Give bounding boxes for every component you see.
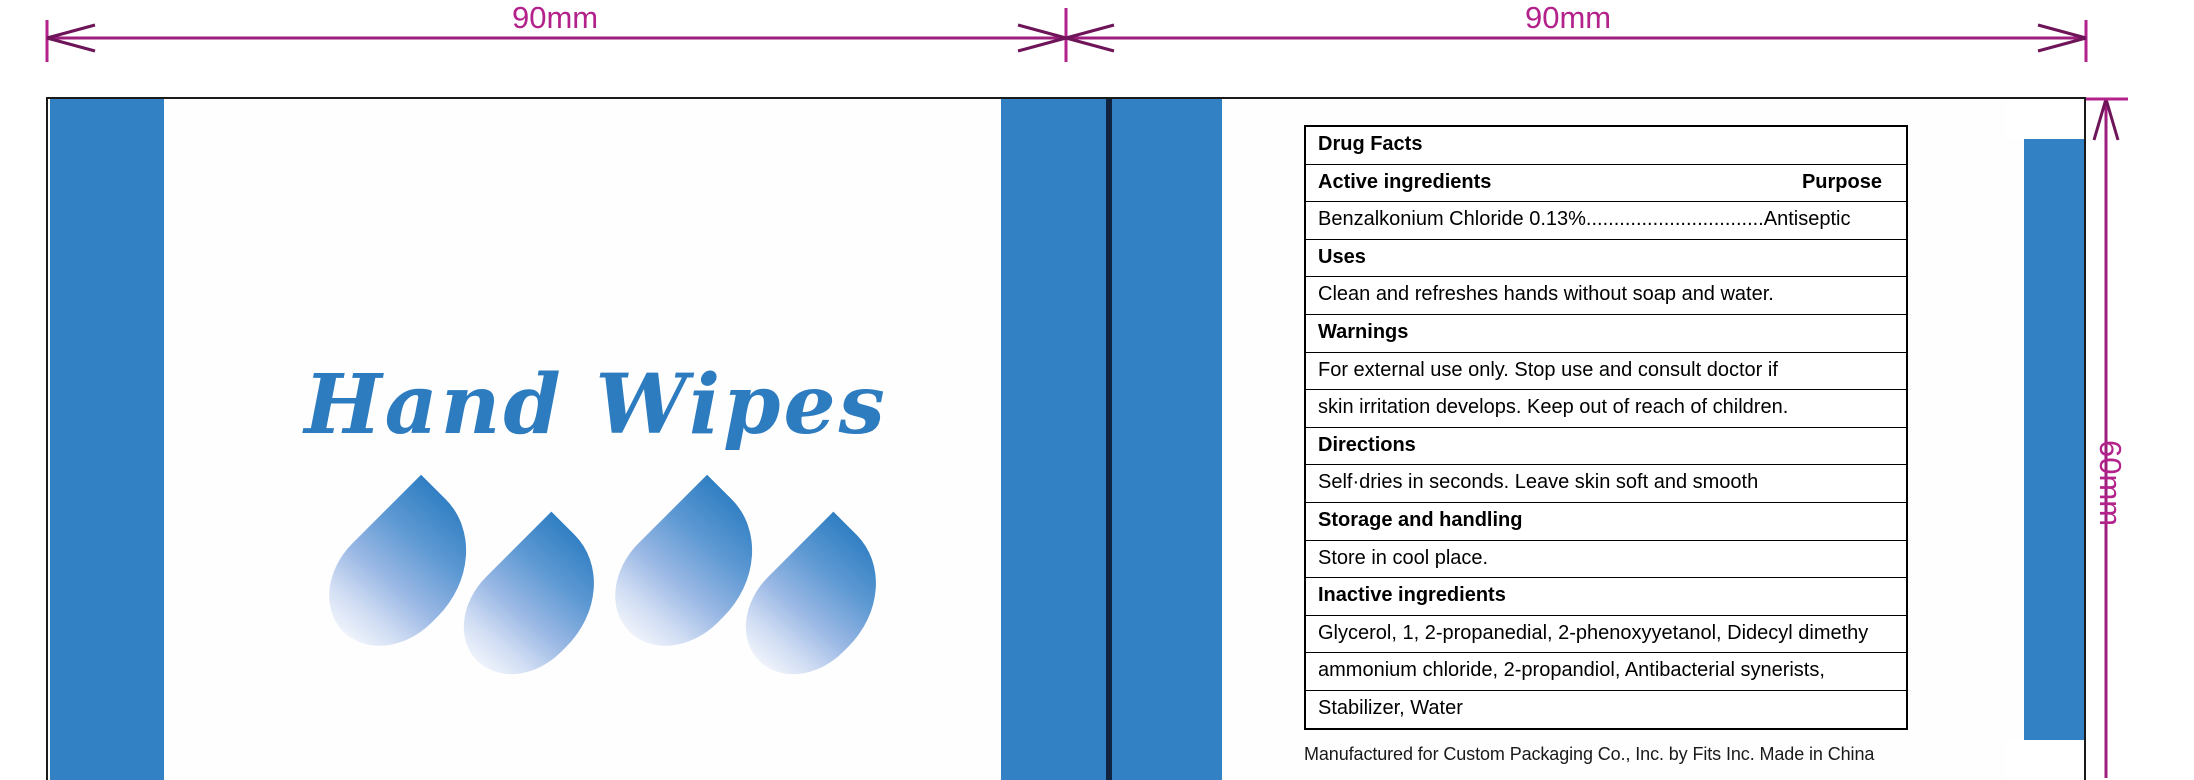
table-row: Drug Facts	[1305, 126, 1907, 164]
brand-title: Hand Wipes	[276, 357, 916, 453]
table-row: ammonium chloride, 2-propandiol, Antibac…	[1305, 653, 1907, 691]
table-row: Clean and refreshes hands without soap a…	[1305, 277, 1907, 315]
dimension-label-width-left: 90mm	[512, 0, 598, 36]
blue-band-center-left	[1001, 99, 1106, 780]
table-row: Warnings	[1305, 314, 1907, 352]
panel-fold-line	[1106, 99, 1112, 780]
band-notch-top	[2006, 99, 2084, 139]
dim-arrow-left-inner	[1018, 25, 1066, 51]
table-row: Store in cool place.	[1305, 540, 1907, 578]
blue-band-center-right	[1112, 99, 1222, 780]
dim-arrow-left-outer	[47, 25, 95, 51]
drug-facts-title: Drug Facts	[1305, 126, 1907, 164]
directions-label: Directions	[1305, 427, 1907, 465]
table-row: Storage and handling	[1305, 502, 1907, 540]
table-row: Stabilizer, Water	[1305, 690, 1907, 728]
package-artwork-canvas: Hand Wipes Drug Facts Active ingredients…	[46, 97, 2086, 780]
drug-facts-panel: Drug Facts Active ingredients Purpose Be…	[1304, 125, 1908, 765]
active-ingredients-header: Active ingredients Purpose	[1305, 164, 1907, 202]
table-row: Inactive ingredients	[1305, 578, 1907, 616]
dimension-label-height: 60mm	[2092, 440, 2128, 526]
table-row: skin irritation develops. Keep out of re…	[1305, 390, 1907, 428]
uses-value: Clean and refreshes hands without soap a…	[1305, 277, 1907, 315]
table-row: Glycerol, 1, 2-propanedial, 2-phenoxyyet…	[1305, 615, 1907, 653]
storage-label: Storage and handling	[1305, 502, 1907, 540]
blue-band-left	[50, 99, 164, 780]
water-droplet-group	[338, 484, 878, 724]
table-row: Directions	[1305, 427, 1907, 465]
warnings-line-2: skin irritation develops. Keep out of re…	[1305, 390, 1907, 428]
dim-arrow-right-outer	[2038, 25, 2086, 51]
purpose-label: Purpose	[1802, 171, 1896, 195]
storage-value: Store in cool place.	[1305, 540, 1907, 578]
table-row: Active ingredients Purpose	[1305, 164, 1907, 202]
inactive-line-3: Stabilizer, Water	[1305, 690, 1907, 728]
inactive-line-1: Glycerol, 1, 2-propanedial, 2-phenoxyyet…	[1305, 615, 1907, 653]
dim-arrow-right-inner	[1066, 25, 1114, 51]
blue-band-right	[2024, 99, 2084, 780]
manufacturer-note: Manufactured for Custom Packaging Co., I…	[1304, 744, 1908, 765]
inactive-ingredients-label: Inactive ingredients	[1305, 578, 1907, 616]
dim-arrow-height-top	[2094, 99, 2118, 140]
water-droplet-icon	[440, 512, 627, 699]
active-ingredient-value: Benzalkonium Chloride 0.13%.............…	[1305, 202, 1907, 240]
directions-value: Self·dries in seconds. Leave skin soft a…	[1305, 465, 1907, 503]
warnings-label: Warnings	[1305, 314, 1907, 352]
table-row: For external use only. Stop use and cons…	[1305, 352, 1907, 390]
uses-label: Uses	[1305, 239, 1907, 277]
table-row: Uses	[1305, 239, 1907, 277]
table-row: Self·dries in seconds. Leave skin soft a…	[1305, 465, 1907, 503]
inactive-line-2: ammonium chloride, 2-propandiol, Antibac…	[1305, 653, 1907, 691]
drug-facts-table: Drug Facts Active ingredients Purpose Be…	[1304, 125, 1908, 730]
band-notch-bottom	[2006, 740, 2084, 780]
table-row: Benzalkonium Chloride 0.13%.............…	[1305, 202, 1907, 240]
active-ingredients-label: Active ingredients	[1318, 171, 1491, 195]
warnings-line-1: For external use only. Stop use and cons…	[1305, 352, 1907, 390]
dimension-label-width-right: 90mm	[1525, 0, 1611, 36]
